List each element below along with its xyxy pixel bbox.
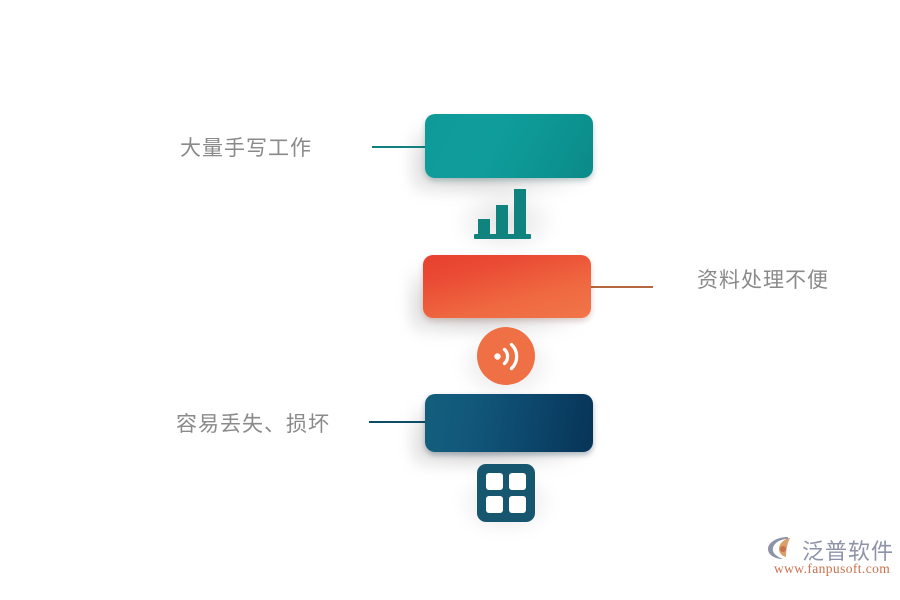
connector-line-data-processing — [591, 286, 653, 288]
bar-chart-icon — [474, 185, 537, 240]
label-loss-damage: 容易丢失、损坏 — [176, 408, 330, 438]
bar-face — [425, 394, 593, 452]
bar-loss-damage[interactable] — [425, 394, 593, 452]
watermark-url: www.fanpusoft.com — [774, 561, 890, 577]
connector-line-handwriting — [372, 146, 427, 148]
bar-data-processing[interactable] — [423, 255, 591, 318]
bar-face — [425, 114, 593, 178]
bar-face — [423, 255, 591, 318]
connector-line-loss-damage — [369, 421, 427, 423]
watermark: 泛普软件 www.fanpusoft.com — [762, 534, 892, 582]
bar-handwriting[interactable] — [425, 114, 593, 178]
label-data-processing: 资料处理不便 — [697, 264, 829, 294]
diagram-canvas: 大量手写工作 资料处理不便 容易丢失、损坏 — [0, 0, 900, 600]
label-handwriting: 大量手写工作 — [180, 132, 312, 162]
signal-waves-icon — [477, 327, 535, 385]
fanpu-logo-icon — [766, 535, 802, 561]
grid-squares-icon — [477, 464, 535, 522]
